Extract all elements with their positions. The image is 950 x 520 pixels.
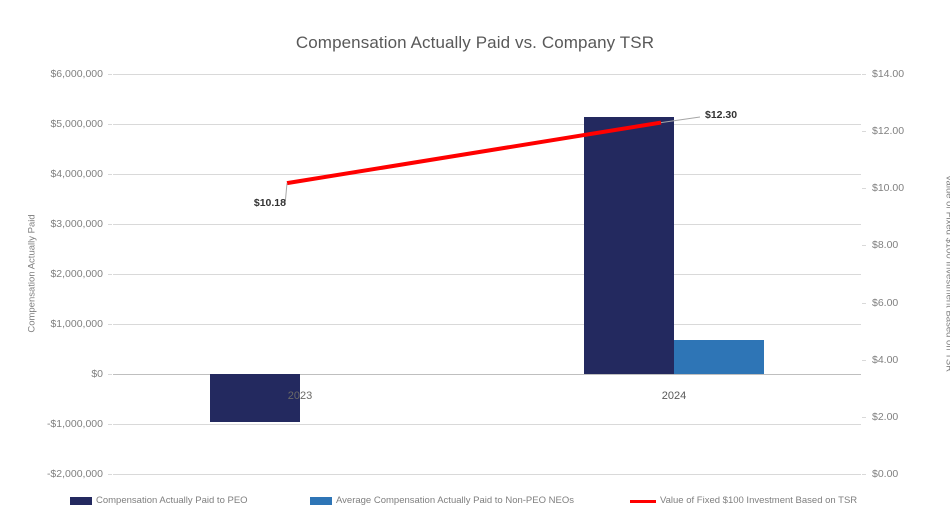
legend-bar-swatch [310, 497, 332, 505]
tsr-line-series [0, 0, 950, 520]
data-label-leader-line [661, 117, 700, 123]
legend-line-swatch [630, 500, 656, 503]
legend-label: Value of Fixed $100 Investment Based on … [660, 493, 857, 509]
tsr-line[interactable] [287, 123, 661, 184]
tsr-data-label: $12.30 [705, 109, 765, 121]
legend-item[interactable]: Compensation Actually Paid to PEO [70, 493, 248, 509]
legend-label: Compensation Actually Paid to PEO [96, 493, 248, 509]
legend-label: Average Compensation Actually Paid to No… [336, 493, 574, 509]
tsr-data-label: $10.18 [226, 197, 286, 209]
legend-item[interactable]: Average Compensation Actually Paid to No… [310, 493, 574, 509]
legend-item[interactable]: Value of Fixed $100 Investment Based on … [630, 493, 857, 509]
chart-legend: Compensation Actually Paid to PEOAverage… [0, 493, 950, 509]
legend-bar-swatch [70, 497, 92, 505]
chart-container: Compensation Actually Paid vs. Company T… [0, 0, 950, 520]
